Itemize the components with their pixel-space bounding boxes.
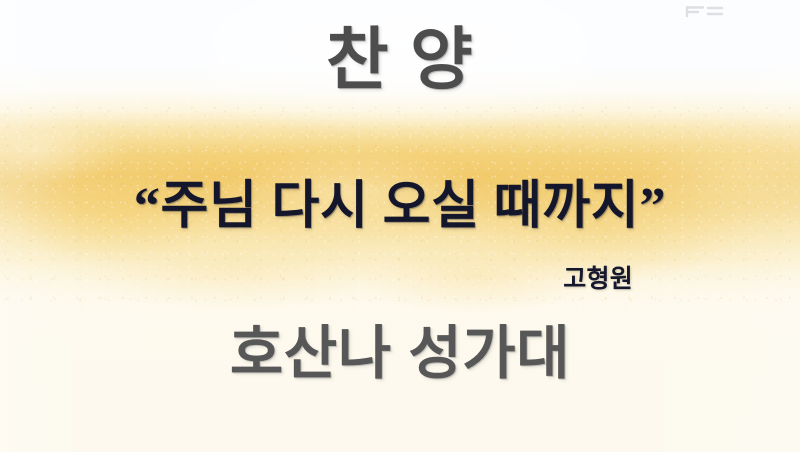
performer-name: 호산나 성가대 (0, 322, 800, 386)
composer-credit: 고형원 (563, 266, 633, 293)
page-title: 찬 양 (0, 24, 800, 97)
watermark-icon (681, 3, 733, 21)
hymn-slide: 찬 양 “주님 다시 오실 때까지” 고형원 호산나 성가대 (0, 0, 800, 452)
composer-credit-row: 고형원 (0, 259, 633, 295)
song-title: “주님 다시 오실 때까지” (0, 178, 800, 236)
